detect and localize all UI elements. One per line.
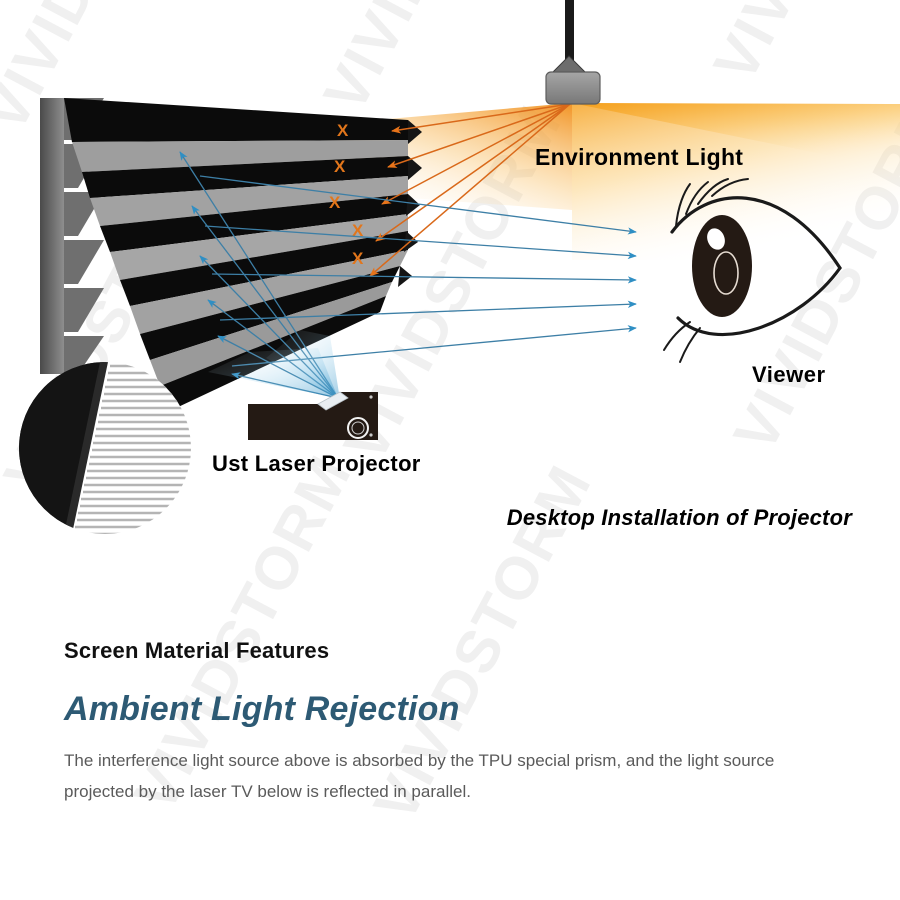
- label-viewer: Viewer: [752, 362, 826, 388]
- reject-x-mark: X: [329, 193, 341, 212]
- projector-screw: [369, 433, 372, 436]
- screen-material-features-heading: Screen Material Features: [0, 620, 900, 664]
- eye-iris: [692, 215, 752, 317]
- diagram-page: VIVIDSTORM VIVIDSTORM VIVIDSTORM VIVIDST…: [0, 0, 900, 900]
- feature-text-block: Screen Material Features Ambient Light R…: [0, 620, 900, 807]
- projector-screw: [369, 395, 372, 398]
- viewer-eye: [664, 179, 840, 362]
- reject-x-mark: X: [334, 157, 346, 176]
- reject-x-mark: X: [337, 121, 349, 140]
- ceiling-lamp: [546, 0, 600, 104]
- screen-left-edge: [40, 98, 64, 374]
- projector-lens-inner: [352, 422, 364, 434]
- label-environment-light: Environment Light: [535, 144, 743, 171]
- lamp-housing: [546, 72, 600, 104]
- label-desktop-installation: Desktop Installation of Projector: [470, 503, 852, 533]
- label-ust-laser-projector: Ust Laser Projector: [212, 451, 421, 477]
- ambient-light-rejection-description: The interference light source above is a…: [0, 729, 900, 807]
- prism-layer-dark: [64, 98, 408, 142]
- lamp-rod: [565, 0, 574, 62]
- ust-laser-projector: [248, 392, 378, 440]
- ambient-light-rejection-heading: Ambient Light Rejection: [0, 664, 900, 729]
- reject-x-mark: X: [352, 249, 364, 268]
